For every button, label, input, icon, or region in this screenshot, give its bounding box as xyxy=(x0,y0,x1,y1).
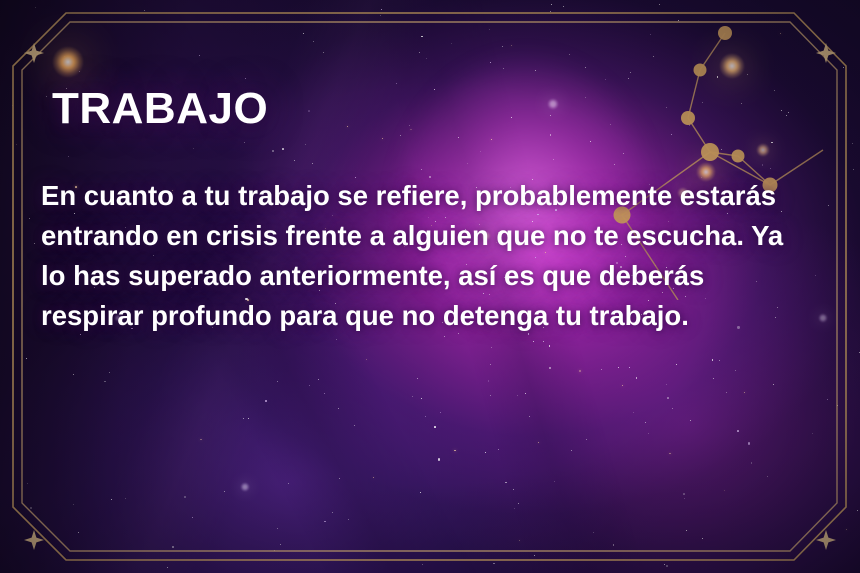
horoscope-card: TRABAJO En cuanto a tu trabajo se refier… xyxy=(0,0,860,573)
card-content: TRABAJO En cuanto a tu trabajo se refier… xyxy=(41,86,821,336)
page-title: TRABAJO xyxy=(41,86,821,132)
horoscope-body-text: En cuanto a tu trabajo se refiere, proba… xyxy=(41,176,806,336)
